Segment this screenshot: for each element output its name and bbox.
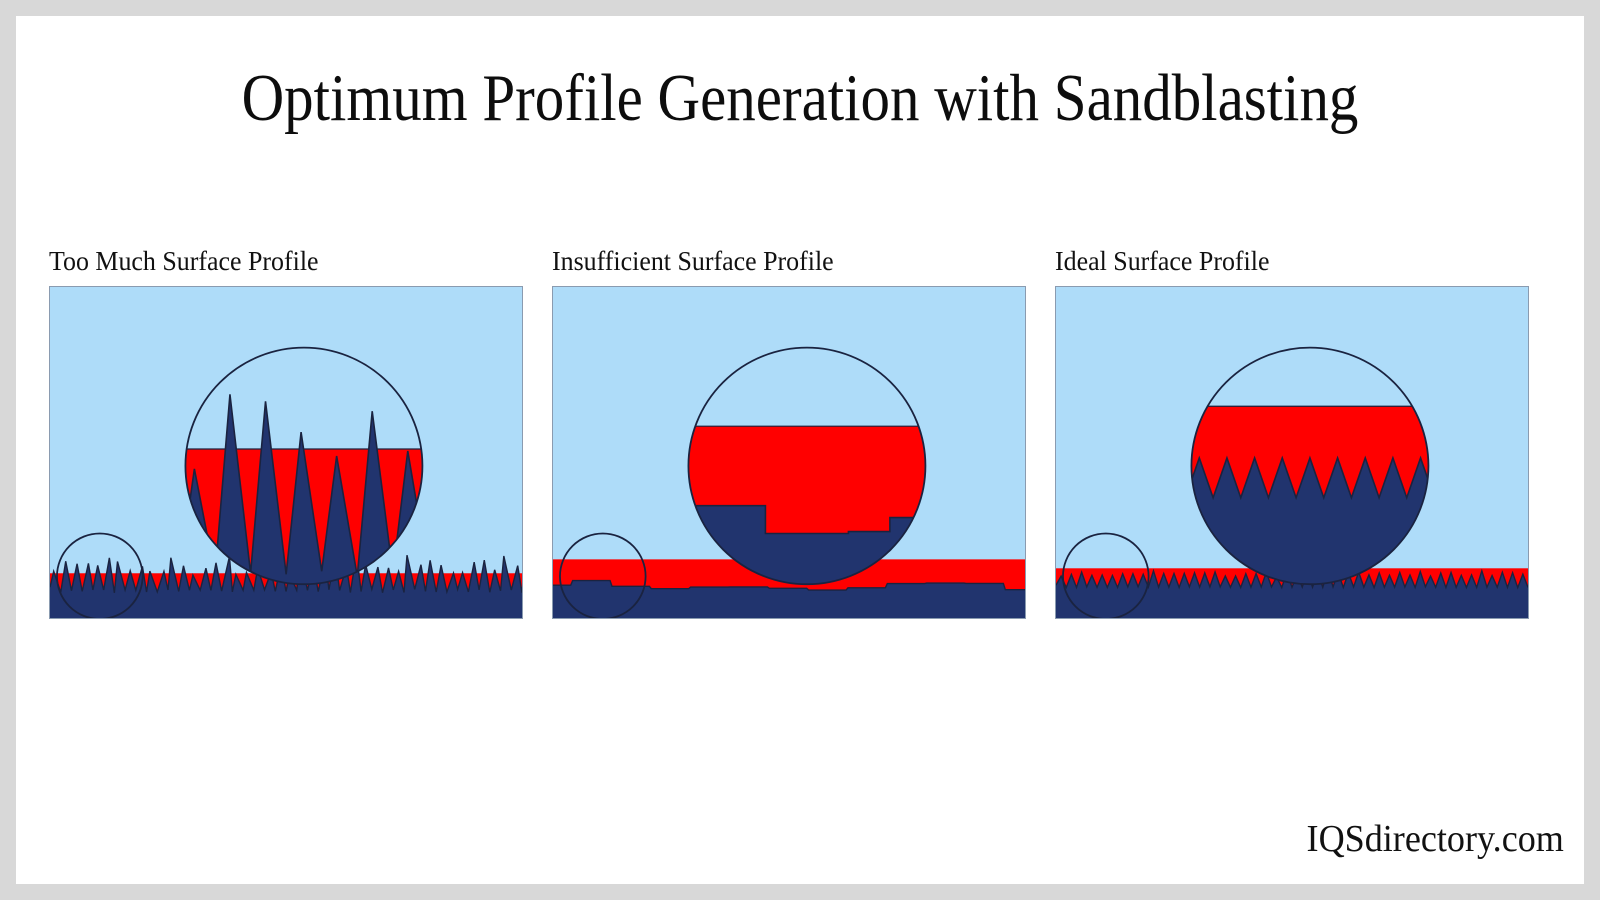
watermark-iqsdirectory: IQSdirectory.com xyxy=(1307,816,1564,862)
panel-label-too-much: Too Much Surface Profile xyxy=(49,244,504,278)
panel-ideal-surface-profile: Ideal Surface Profile xyxy=(1055,244,1529,619)
figure-insufficient-surface-profile xyxy=(552,286,1026,619)
panel-label-insufficient: Insufficient Surface Profile xyxy=(552,244,1007,278)
panel-too-much-surface-profile: Too Much Surface Profile xyxy=(49,244,523,619)
infographic-root: Optimum Profile Generation with Sandblas… xyxy=(0,0,1600,900)
figure-ideal-surface-profile xyxy=(1055,286,1529,619)
infographic-canvas: Optimum Profile Generation with Sandblas… xyxy=(16,16,1584,884)
panel-insufficient-surface-profile: Insufficient Surface Profile xyxy=(552,244,1026,619)
panel-row: Too Much Surface Profile Insufficient Su… xyxy=(49,244,1551,634)
figure-too-much-surface-profile xyxy=(49,286,523,619)
page-title: Optimum Profile Generation with Sandblas… xyxy=(110,56,1490,140)
panel-label-ideal: Ideal Surface Profile xyxy=(1055,244,1510,278)
